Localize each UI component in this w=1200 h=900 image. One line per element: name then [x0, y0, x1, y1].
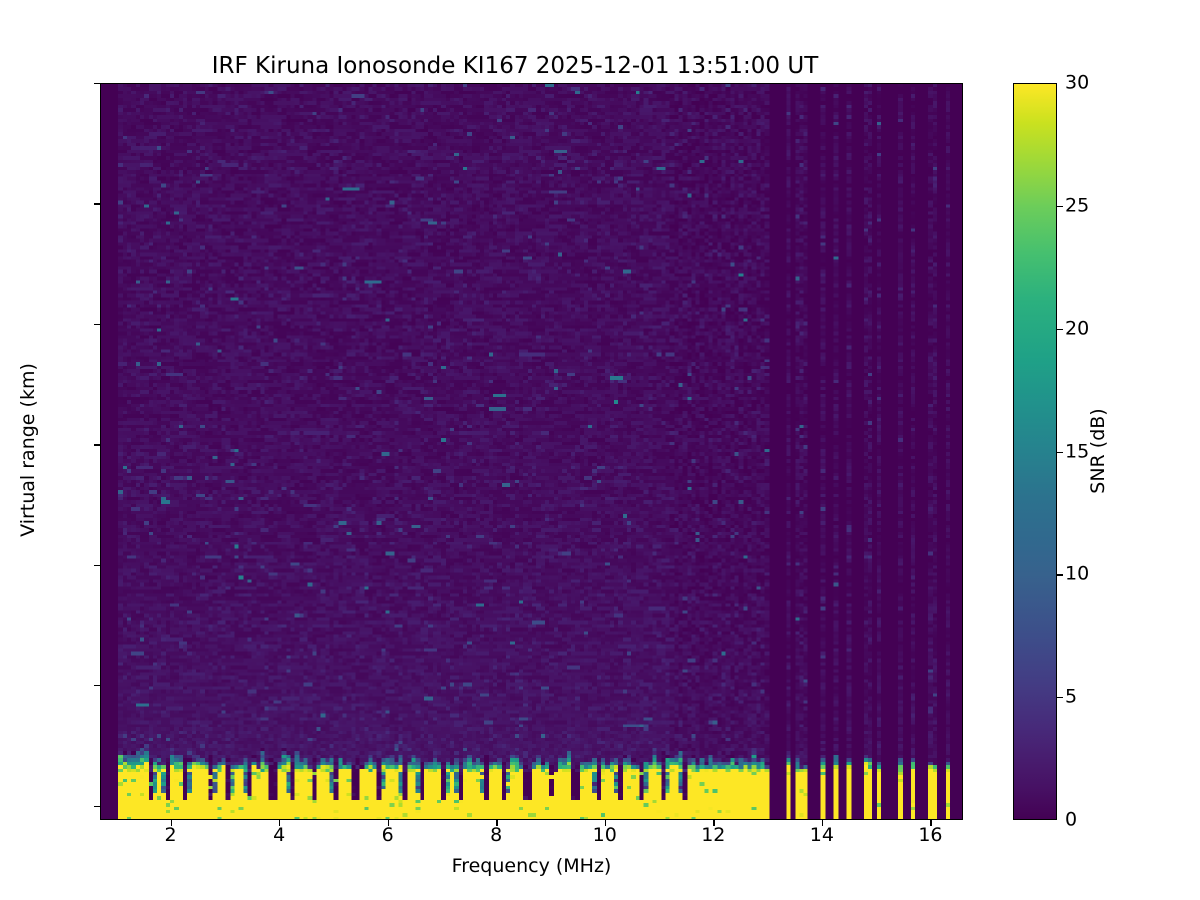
y-tick-mark [94, 685, 100, 686]
y-tick-mark [94, 806, 100, 807]
y-tick-mark [94, 83, 100, 84]
ionogram-figure: IRF Kiruna Ionosonde KI167 2025-12-01 13… [0, 0, 1200, 900]
x-tick-label: 12 [653, 826, 773, 845]
plot-area [100, 83, 963, 820]
x-tick-label: 2 [111, 826, 231, 845]
y-tick-mark [94, 203, 100, 204]
x-axis-label: Frequency (MHz) [100, 855, 963, 877]
x-tick-mark [388, 820, 389, 826]
colorbar-tick-mark [1057, 574, 1063, 575]
x-tick-mark [279, 820, 280, 826]
x-tick-label: 16 [870, 826, 990, 845]
chart-title-line1: IRF Kiruna Ionosonde KI167 2025-12-01 13… [212, 53, 819, 79]
y-axis-label: Virtual range (km) [17, 300, 39, 600]
colorbar-tick-label: 30 [1065, 74, 1089, 93]
x-tick-label: 10 [545, 826, 665, 845]
colorbar-tick-mark [1057, 206, 1063, 207]
x-tick-mark [713, 820, 714, 826]
colorbar-tick-label: 25 [1065, 196, 1089, 215]
colorbar [1013, 83, 1057, 820]
x-tick-label: 6 [328, 826, 448, 845]
y-tick-mark [94, 324, 100, 325]
ionogram-heatmap [101, 84, 962, 819]
colorbar-tick-label: 15 [1065, 442, 1089, 461]
y-tick-mark [94, 565, 100, 566]
x-tick-label: 14 [762, 826, 882, 845]
y-tick-mark [94, 444, 100, 445]
x-tick-mark [171, 820, 172, 826]
x-tick-mark [496, 820, 497, 826]
x-tick-label: 4 [219, 826, 339, 845]
x-tick-mark [822, 820, 823, 826]
colorbar-tick-label: 20 [1065, 319, 1089, 338]
colorbar-tick-mark [1057, 452, 1063, 453]
colorbar-tick-label: 10 [1065, 565, 1089, 584]
colorbar-tick-mark [1057, 697, 1063, 698]
colorbar-tick-label: 5 [1065, 688, 1077, 707]
colorbar-label: SNR (dB) [1087, 301, 1109, 601]
colorbar-tick-mark [1057, 329, 1063, 330]
colorbar-tick-label: 0 [1065, 811, 1077, 830]
x-tick-mark [605, 820, 606, 826]
x-tick-label: 8 [436, 826, 556, 845]
x-tick-mark [930, 820, 931, 826]
